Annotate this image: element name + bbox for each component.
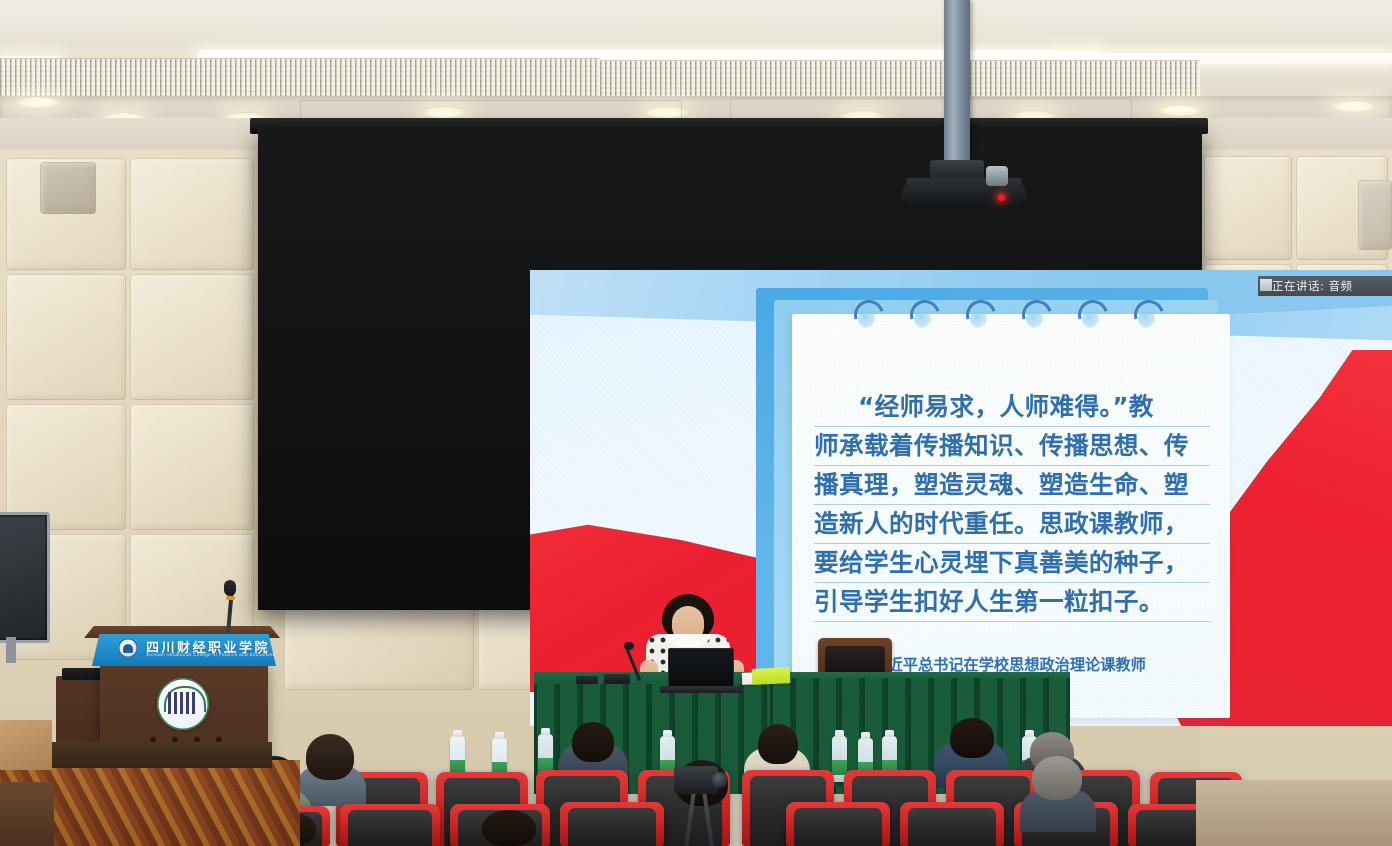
green-notepad bbox=[752, 667, 791, 685]
lectern-banner-en-text: Sichuan Vocational College of Finance an… bbox=[146, 652, 275, 657]
audience-head bbox=[482, 810, 536, 846]
lectern-microphone-head bbox=[224, 580, 236, 596]
wall-panel bbox=[1204, 156, 1292, 260]
wall-speaker bbox=[40, 162, 96, 214]
conference-hall-photo: “经师易求，人师难得。”教 师承载着传播知识、传播思想、传 播真理，塑造灵魂、塑… bbox=[0, 0, 1392, 846]
spiral-ring-icon bbox=[964, 298, 994, 338]
slide-body-line: 播真理，塑造灵魂、塑造生命、塑 bbox=[814, 466, 1210, 505]
floor-right bbox=[1196, 780, 1392, 846]
spiral-binding-rings bbox=[852, 298, 1162, 342]
projector-power-led bbox=[998, 194, 1005, 201]
presenter-collar bbox=[666, 634, 710, 647]
audience-head bbox=[1032, 756, 1082, 800]
projection-screen-frame: “经师易求，人师难得。”教 师承载着传播知识、传播思想、传 播真理，塑造灵魂、塑… bbox=[258, 128, 1202, 610]
slide-body-line: 引导学生扣好人生第一粒扣子。 bbox=[814, 583, 1210, 622]
wall-panel bbox=[130, 158, 254, 270]
slide-body-line: 造新人的时代重任。思政课教师， bbox=[814, 505, 1210, 544]
seat-cushion bbox=[794, 808, 882, 846]
spiral-ring-icon bbox=[1132, 298, 1162, 338]
projector-mount-pole bbox=[944, 0, 970, 186]
audience-head bbox=[306, 734, 354, 780]
ceiling-downlight bbox=[1330, 100, 1378, 113]
slide-body-line: 要给学生心灵埋下真善美的种子， bbox=[814, 544, 1210, 583]
seat-cushion bbox=[348, 810, 432, 846]
spiral-ring-icon bbox=[852, 298, 882, 338]
projector-lens bbox=[986, 166, 1008, 186]
microphone-indicator-ring bbox=[226, 596, 235, 600]
slide-body-text: “经师易求，人师难得。”教 师承载着传播知识、传播思想、传 播真理，塑造灵魂、塑… bbox=[814, 388, 1210, 622]
spiral-ring-icon bbox=[1020, 298, 1050, 338]
seat-cushion bbox=[908, 808, 996, 846]
table-microphone-head bbox=[624, 642, 634, 650]
wall-panel bbox=[130, 404, 254, 530]
speaking-status-text: 正在讲话: 音频 bbox=[1272, 278, 1353, 294]
monitor-screen bbox=[0, 517, 45, 638]
speaker-indicator-icon bbox=[1260, 279, 1272, 291]
audience-head bbox=[758, 724, 798, 764]
ceiling-projector bbox=[900, 178, 1028, 206]
slide-body-line: “经师易求，人师难得。”教 bbox=[814, 388, 1210, 427]
wall-monitor bbox=[0, 512, 50, 643]
banner-logo-inner bbox=[123, 644, 133, 653]
wall-panel bbox=[284, 606, 474, 690]
cardboard-box bbox=[0, 720, 52, 770]
seat-cushion bbox=[568, 808, 656, 846]
table-device bbox=[604, 674, 630, 684]
table-device bbox=[576, 676, 598, 684]
side-table bbox=[0, 782, 54, 846]
hvac-vent-grille bbox=[600, 60, 1200, 100]
wall-panel bbox=[130, 274, 254, 400]
camera-lens-icon bbox=[712, 772, 728, 788]
ceiling bbox=[0, 0, 1392, 132]
ceiling-downlight bbox=[14, 96, 62, 109]
crest-bars bbox=[168, 692, 198, 714]
wall-speaker bbox=[1358, 180, 1392, 250]
ceiling-band bbox=[0, 0, 1392, 46]
laptop-base bbox=[660, 686, 742, 693]
monitor-stand bbox=[6, 637, 16, 663]
ceiling-downlight bbox=[1156, 104, 1204, 117]
slide-body-line: 师承载着传播知识、传播思想、传 bbox=[814, 427, 1210, 466]
audience-head bbox=[950, 718, 994, 758]
spiral-ring-icon bbox=[908, 298, 938, 338]
laptop-screen bbox=[668, 648, 734, 690]
audience-head bbox=[572, 722, 614, 762]
ceiling-tile-seam bbox=[730, 98, 1132, 120]
spiral-ring-icon bbox=[1076, 298, 1106, 338]
hvac-vent-grille bbox=[0, 58, 600, 98]
wall-panel bbox=[6, 274, 126, 400]
